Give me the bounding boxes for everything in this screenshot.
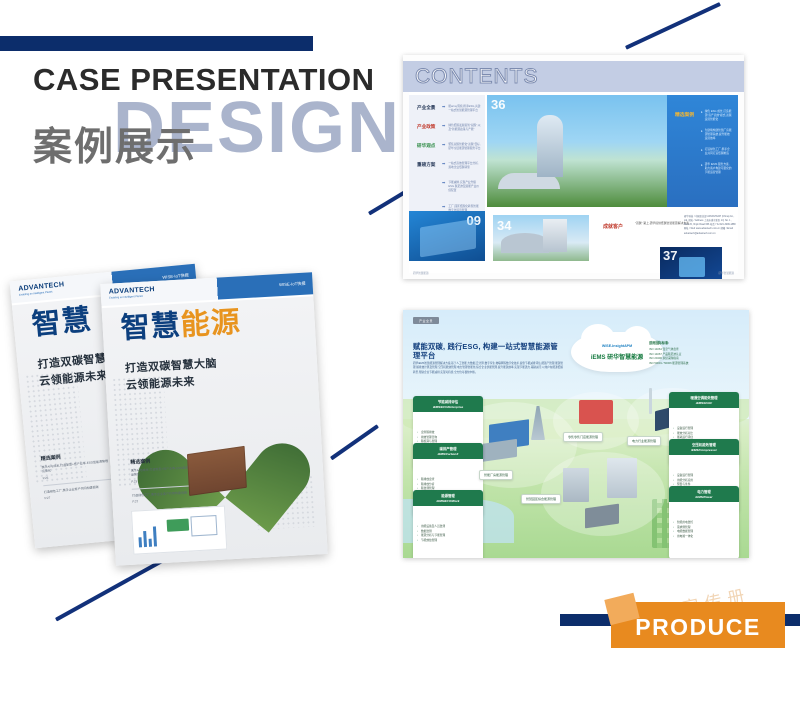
highlight-list: ▸ 绿色 ESG 成长,打造能源"高产高效"模式,双碳运营智能化 ▸ 为建筑构建…	[701, 110, 732, 183]
toc-title: 产业政策	[417, 124, 439, 130]
highlight-item: ▸ 绿色 ESG 成长,打造能源"高产高效"模式,双碳运营智能化	[701, 110, 732, 122]
toc-row[interactable]: 产业政策 ➡ 绿色低碳发展提到"双碳",以及"新能源政策与产能"	[417, 124, 481, 132]
toc-desc: 聚焦双碳智能化"双碳"目标,研华全链能源管理服务平台	[448, 143, 481, 151]
diagonal-line-bottom-left	[55, 555, 171, 622]
brochure-front-title: 智慧能源	[120, 308, 241, 344]
page-title-chinese: 案例展示	[33, 128, 197, 167]
title-part-1: 智慧	[30, 304, 93, 342]
module-title-en: iEMS/CarbonX	[415, 452, 481, 456]
module-header: 电力管理 iEMS/Power	[669, 486, 739, 502]
contents-building-photo: 34	[493, 215, 589, 261]
section-tag: 产业全景	[413, 317, 439, 324]
iems-infographic-image[interactable]: 产业全景 赋能双碳, 践行ESG, 构建一站式智慧能源管理平台 研华iEMS智慧…	[403, 310, 749, 558]
contents-spread-image[interactable]: CONTENTS 产业全景 ➡ 能array洞察,携手ESG,共建一站式智慧能源…	[403, 55, 744, 279]
contents-product-photo: 37	[660, 247, 722, 279]
bullet-icon: ▸	[701, 129, 703, 141]
module-card-work[interactable]: 能源管理 iEMS/ECO/Work 用能设备及人员监测 数据监测 能源分析与节…	[413, 490, 483, 558]
bullet-icon: ▸	[701, 148, 703, 156]
module-item: 用电端一体化	[673, 535, 735, 540]
module-header: 碳排产管理 iEMS/CarbonX	[413, 443, 483, 459]
bullet-icon: ▸	[701, 163, 703, 175]
bullet-icon: ➡	[442, 162, 445, 166]
produce-label: PRODUCE	[611, 614, 785, 641]
contents-heading: CONTENTS	[415, 65, 539, 89]
highlight-item: ▸ 打造绿色工厂,携手企业共同打造低碳制造	[701, 148, 732, 156]
contents-highlight-panel: 精选案例 ▸ 绿色 ESG 成长,打造能源"高产高效"模式,双碳运营智能化 ▸ …	[667, 95, 738, 207]
title-part-2: 能源	[180, 306, 242, 341]
toc-row[interactable]: 产业全景 ➡ 能array洞察,携手ESG,共建一站式智慧能源管理平台	[417, 105, 481, 113]
mini-diagram	[131, 506, 227, 555]
toc-desc: 节能减排,实现产业升级 ESG 碳足迹及赋能产业价值配置	[448, 181, 481, 193]
module-title-cn: 碳排产管理	[415, 446, 481, 451]
contents-hero-photo: 36	[487, 95, 667, 207]
module-header: 节能减排评估 iEMS/ECO/Enterprise	[413, 396, 483, 412]
diagonal-line-top-right	[625, 2, 721, 50]
module-items: 用能设备及人员监测 数据监测 能源分析与节能管理 节能效益管理	[413, 522, 483, 547]
contents-footer-right: 研华智慧能源	[718, 271, 734, 275]
module-item: 节能效益管理	[417, 539, 479, 544]
slide-canvas: DESIGN CASE PRESENTATION 案例展示 CONTENTS 产…	[0, 0, 800, 707]
mini-frame-icon	[190, 515, 217, 536]
module-title-cn: 暖通空调能效管理	[671, 395, 737, 400]
module-header: 空压机能效管理 iEMS/Compressor	[669, 439, 739, 455]
brochure-front-cover[interactable]: 精选案例 携手AI与成本,打造新型+低产业等-ESG型能源管理运营化 P.23 …	[100, 272, 327, 565]
module-title-en: iEMS/HVAC	[671, 401, 737, 405]
highlight-heading: 精选案例	[675, 111, 694, 118]
highlight-item: ▸ 研华 iEMS 服务方案,助力客户构建可量化的节能运营管理	[701, 163, 732, 175]
toc-row[interactable]: 重磅方案 ➡ 一站式高效管理平台分析,落地企业低碳转型	[417, 162, 481, 170]
case-page: P.27	[132, 496, 200, 504]
wind-turbine-icon	[649, 388, 652, 414]
brochure-back-cases: 精选案例 携手AI与成本,打造新型+低产业等-ESG型能源管理运营化 P.23 …	[40, 449, 112, 503]
contents-blue-photo: 09	[409, 211, 485, 261]
contents-footer-left: 研华智慧能源	[413, 271, 429, 275]
module-title-en: iEMS/ECO/Enterprise	[415, 405, 481, 409]
highlight-item: ▸ 为建筑构建智慧厂房能源管理系统,提升能效运营效率	[701, 129, 732, 141]
highlight-text: 绿色 ESG 成长,打造能源"高产高效"模式,双碳运营智能化	[705, 110, 732, 122]
module-title-en: iEMS/Compressor	[671, 448, 737, 452]
page-number: 36	[491, 97, 505, 112]
module-title-cn: 能源管理	[415, 493, 481, 498]
brochure-back-title: 智慧	[31, 306, 94, 341]
building-graphic	[187, 446, 247, 496]
toc-desc: 绿色低碳发展提到"双碳",以及"新能源政策与产能"	[448, 124, 481, 132]
toc-title: 研华观点	[417, 143, 439, 149]
customer-heading: 成就客户	[603, 223, 623, 230]
mini-server-icon	[167, 519, 190, 532]
city-building-icon	[607, 458, 637, 498]
page-title-english: CASE PRESENTATION	[33, 62, 375, 98]
page-number: 34	[497, 218, 511, 233]
module-header: 能源管理 iEMS/ECO/Work	[413, 490, 483, 506]
toc-title: 产业全景	[417, 105, 439, 111]
bullet-icon: ➡	[442, 143, 445, 147]
toc-row[interactable]: 研华观点 ➡ 聚焦双碳智能化"双碳"目标,研华全链能源管理服务平台	[417, 143, 481, 151]
module-card-power[interactable]: 电力管理 iEMS/Power 智能用电监控 需求侧管理 电能数据管理 用电端一…	[669, 486, 739, 558]
highlight-text: 研华 iEMS 服务方案,助力客户构建可量化的节能运营管理	[705, 163, 732, 175]
toc-desc: 一站式高效管理平台分析,落地企业低碳转型	[448, 162, 481, 170]
bullet-icon: ➡	[442, 105, 445, 109]
standard-item: ISO 50001 / 50006 能源管理系统	[649, 362, 739, 367]
module-header: 暖通空调能效管理 iEMS/HVAC	[669, 392, 739, 408]
module-title-cn: 空压机能效管理	[671, 442, 737, 447]
toc-row-extra[interactable]: ➡ 节能减排,实现产业升级 ESG 碳足迹及赋能产业价值配置	[417, 181, 481, 193]
contents-toc-list: 产业全景 ➡ 能array洞察,携手ESG,共建一站式智慧能源管理平台 产业政策…	[417, 105, 481, 224]
cloud-product-name: WISE-InsightAPM	[571, 344, 663, 348]
toc-title: 重磅方案	[417, 162, 439, 168]
contents-address-block: 研华科技 / 中国区总部 ADVANTECH (China) Co., Ltd.…	[684, 215, 736, 236]
module-title-en: iEMS/ECO/Work	[415, 499, 481, 503]
city-building-icon	[563, 468, 589, 502]
bullet-icon: ➡	[442, 124, 445, 128]
highlight-text: 为建筑构建智慧厂房能源管理系统,提升能效运营效率	[705, 129, 732, 141]
module-title-en: iEMS/Power	[671, 495, 737, 499]
highlight-text: 打造绿色工厂,携手企业共同打造低碳制造	[705, 148, 732, 156]
iems-headline: 赋能双碳, 践行ESG, 构建一站式智慧能源管理平台	[413, 342, 563, 360]
module-title-cn: 电力管理	[671, 489, 737, 494]
page-number: 37	[663, 248, 677, 263]
title-part-1: 智慧	[120, 310, 182, 345]
scene-label-retail: 零售零售门店能源管理	[563, 432, 603, 442]
advantech-logo: ADVANTECH Enabling an Intelligent Planet	[109, 286, 156, 300]
bullet-icon: ▸	[701, 110, 703, 122]
brochure-front-subtitle: 打造双碳智慧大脑 云领能源未来	[125, 356, 219, 394]
scene-label-power: 电力行业能源管理	[627, 436, 661, 446]
contents-page: CONTENTS 产业全景 ➡ 能array洞察,携手ESG,共建一站式智慧能源…	[403, 55, 744, 279]
mini-bar-chart	[138, 526, 157, 547]
wise-tag: WISE-IoT快报	[279, 281, 306, 288]
toc-desc: 能array洞察,携手ESG,共建一站式智慧能源管理平台	[448, 105, 481, 113]
page-number: 09	[467, 213, 481, 228]
advantech-logo: ADVANTECH Enabling an Intelligent Planet	[18, 281, 65, 296]
bullet-icon: ➡	[442, 181, 445, 185]
scene-label-factory: 智能厂房能源管理	[479, 470, 513, 480]
diagonal-line-mid-lower	[330, 424, 379, 460]
scene-label-park: 智慧园区综合能源管理	[521, 494, 561, 504]
header-accent-bar	[0, 36, 313, 51]
bullet-icon: ➡	[442, 205, 445, 209]
cloud-product-cn: iEMS 研华智慧能源	[571, 352, 663, 361]
module-title-cn: 节能减排评估	[415, 399, 481, 404]
produce-badge[interactable]: PRODUCE	[611, 602, 785, 648]
store-icon	[579, 400, 613, 424]
iems-paragraph: 研华iEMS智慧能源管理解决方案,基于人工智能,大数据,云计算,数字孪生,物联网…	[413, 362, 563, 375]
module-items: 智能用电监控 需求侧管理 电能数据管理 用电端一体化	[669, 518, 739, 543]
